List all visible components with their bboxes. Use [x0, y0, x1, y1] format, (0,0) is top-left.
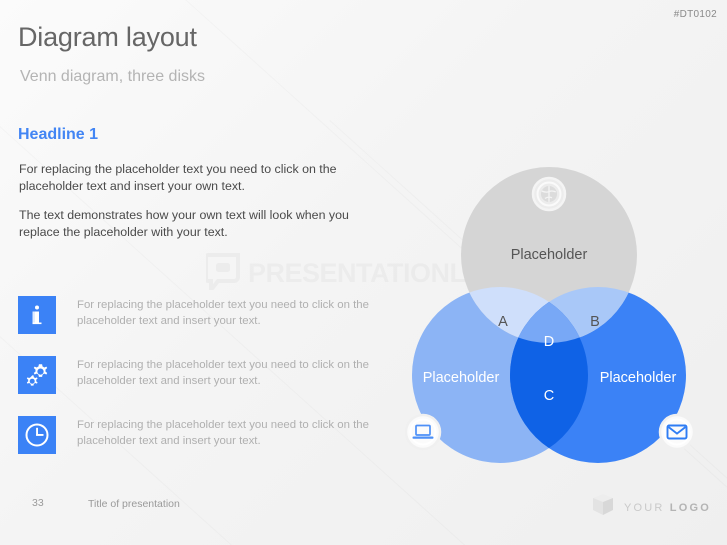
- list-item-label: For replacing the placeholder text you n…: [77, 356, 377, 389]
- footer-presentation-title: Title of presentation: [88, 498, 180, 510]
- bullet-list: For replacing the placeholder text you n…: [18, 296, 377, 476]
- venn-diagram: Placeholder Placeholder Placeholder A B …: [395, 160, 725, 495]
- speech-bubble-icon: [206, 252, 240, 295]
- gears-icon: [18, 356, 56, 394]
- clock-icon: [18, 416, 56, 454]
- list-item-label: For replacing the placeholder text you n…: [77, 296, 377, 329]
- slide-canvas: #DT0102 Diagram layout Venn diagram, thr…: [0, 0, 727, 545]
- paragraph-2: The text demonstrates how your own text …: [19, 207, 371, 240]
- venn-label-top: Placeholder: [511, 247, 588, 263]
- venn-region-label-D: D: [544, 334, 554, 350]
- list-item[interactable]: For replacing the placeholder text you n…: [18, 416, 377, 456]
- list-item[interactable]: For replacing the placeholder text you n…: [18, 356, 377, 396]
- list-item[interactable]: For replacing the placeholder text you n…: [18, 296, 377, 336]
- list-item-label: For replacing the placeholder text you n…: [77, 416, 377, 449]
- footer-page-number: 33: [32, 497, 44, 509]
- logo-text-bold: LOGO: [670, 502, 711, 514]
- logo[interactable]: YOUR LOGO: [591, 492, 711, 523]
- page-subtitle: Venn diagram, three disks: [20, 68, 205, 86]
- venn-region-label-A: A: [498, 314, 508, 330]
- paragraph-1: For replacing the placeholder text you n…: [19, 161, 371, 194]
- venn-region-label-B: B: [590, 314, 600, 330]
- cube-logo-icon: [591, 492, 615, 523]
- info-icon: [18, 296, 56, 334]
- globe-icon[interactable]: [533, 178, 565, 210]
- envelope-icon[interactable]: [660, 415, 694, 449]
- logo-text-light: YOUR: [624, 502, 670, 514]
- venn-label-left: Placeholder: [423, 370, 500, 386]
- logo-text: YOUR LOGO: [624, 502, 711, 514]
- template-code: #DT0102: [674, 9, 717, 20]
- page-title: Diagram layout: [18, 22, 197, 53]
- venn-label-right: Placeholder: [600, 370, 677, 386]
- laptop-icon[interactable]: [406, 415, 440, 449]
- venn-region-label-C: C: [544, 388, 554, 404]
- headline: Headline 1: [18, 126, 98, 144]
